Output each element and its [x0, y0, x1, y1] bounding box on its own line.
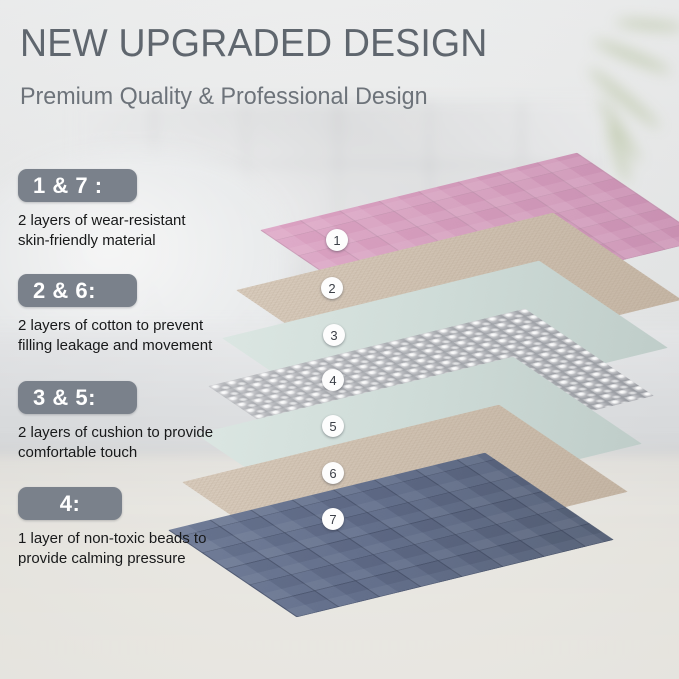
- layer-badge-7: 7: [322, 508, 344, 530]
- layer-badge-6: 6: [322, 462, 344, 484]
- chip-layers-3-5: 3 & 5:: [18, 381, 137, 414]
- layer-badge-1: 1: [326, 229, 348, 251]
- layer-badge-2: 2: [321, 277, 343, 299]
- description-layers-2-6: 2 layers of cotton to prevent filling le…: [18, 316, 278, 355]
- chip-layers-1-7: 1 & 7 :: [18, 169, 137, 202]
- layer-stack-diagram: [238, 118, 679, 638]
- page-subtitle: Premium Quality & Professional Design: [20, 82, 428, 112]
- layer-badge-4: 4: [322, 369, 344, 391]
- chip-layers-2-6: 2 & 6:: [18, 274, 137, 307]
- layer-badge-3: 3: [323, 324, 345, 346]
- chip-layer-4: 4:: [18, 487, 122, 520]
- layer-badge-5: 5: [322, 415, 344, 437]
- infographic-canvas: 1 2 3 4 5 6 7 NEW UPGRADED DESIGN Premiu…: [0, 0, 679, 679]
- page-title: NEW UPGRADED DESIGN: [20, 22, 488, 66]
- description-layers-3-5: 2 layers of cushion to provide comfortab…: [18, 423, 278, 462]
- description-layers-1-7: 2 layers of wear-resistant skin-friendly…: [18, 211, 268, 250]
- description-layer-4: 1 layer of non-toxic beads to provide ca…: [18, 529, 278, 568]
